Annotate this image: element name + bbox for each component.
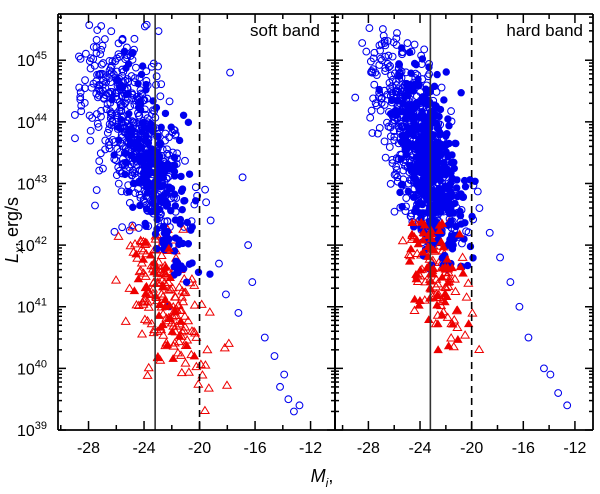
data-point xyxy=(447,200,454,207)
data-point xyxy=(410,295,418,302)
data-point xyxy=(176,137,183,144)
data-point xyxy=(141,179,148,186)
data-point xyxy=(216,260,223,267)
data-point xyxy=(153,157,160,164)
data-point xyxy=(171,173,178,180)
data-point xyxy=(129,204,136,211)
data-point xyxy=(153,73,160,80)
data-point xyxy=(434,71,441,78)
data-point xyxy=(192,197,199,204)
data-point xyxy=(420,175,427,182)
x-tick-label: -12 xyxy=(563,440,586,457)
data-point xyxy=(114,77,121,84)
data-point xyxy=(446,191,453,198)
data-point xyxy=(421,166,428,173)
data-point xyxy=(525,334,532,341)
data-point xyxy=(206,308,214,315)
data-point xyxy=(386,144,393,151)
data-point xyxy=(102,137,109,144)
data-point xyxy=(153,104,160,111)
data-point xyxy=(398,45,405,52)
data-point xyxy=(82,50,89,57)
data-point xyxy=(129,140,136,147)
data-point xyxy=(203,346,211,353)
data-point xyxy=(376,86,383,93)
y-tick-exponent: 45 xyxy=(35,50,47,62)
data-point xyxy=(109,96,116,103)
data-point xyxy=(438,84,445,91)
data-point xyxy=(382,154,389,161)
data-point xyxy=(122,317,130,324)
data-point xyxy=(434,145,441,152)
data-point xyxy=(122,171,129,178)
data-point xyxy=(160,240,167,247)
data-point xyxy=(125,110,132,117)
y-tick-exponent: 42 xyxy=(35,235,47,247)
data-point xyxy=(177,264,184,271)
y-tick-exponent: 43 xyxy=(35,174,47,186)
data-point xyxy=(207,271,214,278)
data-point xyxy=(277,383,284,390)
data-point xyxy=(180,112,187,119)
chart-figure: 1039104010411042104310441045-28-24-20-16… xyxy=(0,0,600,494)
data-point xyxy=(436,113,443,120)
series-blue-open-outlier xyxy=(476,205,571,409)
data-point xyxy=(443,69,450,76)
data-point xyxy=(419,159,426,166)
data-point xyxy=(450,210,457,217)
data-point xyxy=(426,64,433,71)
y-tick-label: 1045 xyxy=(17,50,47,70)
data-point xyxy=(261,334,268,341)
data-point xyxy=(457,212,464,219)
data-point xyxy=(432,188,439,195)
data-point xyxy=(140,119,147,126)
data-point xyxy=(177,220,184,227)
data-point xyxy=(434,105,441,112)
data-point xyxy=(404,40,411,47)
x-axis-title-comma: , xyxy=(328,466,333,486)
data-point xyxy=(398,156,405,163)
data-point xyxy=(399,237,407,244)
data-point xyxy=(397,189,404,196)
data-point xyxy=(178,173,185,180)
data-point xyxy=(470,254,477,261)
data-point xyxy=(239,174,246,181)
data-point xyxy=(195,269,202,276)
data-point xyxy=(449,320,457,327)
y-tick-label: 1040 xyxy=(17,358,47,378)
data-point xyxy=(462,183,469,190)
data-point xyxy=(93,37,100,44)
data-point xyxy=(410,88,417,95)
data-point xyxy=(223,291,230,298)
data-point xyxy=(101,36,108,43)
data-point xyxy=(187,227,194,234)
data-point xyxy=(450,242,457,249)
data-point xyxy=(88,84,95,91)
data-point xyxy=(393,97,400,104)
y-tick-exponent: 39 xyxy=(35,420,47,432)
data-point xyxy=(143,86,150,93)
data-point xyxy=(151,193,158,200)
data-point xyxy=(138,71,145,78)
data-point xyxy=(72,112,79,119)
data-point xyxy=(153,81,160,88)
panel-labels: soft bandhard band xyxy=(250,21,583,40)
data-point xyxy=(143,371,151,378)
data-point xyxy=(458,221,465,228)
x-tick-label: -24 xyxy=(408,440,431,457)
scatter-panel-hard-band xyxy=(352,25,571,409)
chart-svg: 1039104010411042104310441045-28-24-20-16… xyxy=(0,0,600,494)
y-axis-title-symbol: L xyxy=(2,253,22,263)
data-point xyxy=(403,195,410,202)
panel-label-soft: soft band xyxy=(250,21,320,40)
data-point xyxy=(441,159,448,166)
data-point xyxy=(190,352,198,359)
data-point xyxy=(416,148,423,155)
data-point xyxy=(179,186,186,193)
data-point xyxy=(117,84,124,91)
x-tick-label: -16 xyxy=(512,440,535,457)
data-point xyxy=(201,407,209,414)
data-point xyxy=(443,130,450,137)
data-point xyxy=(426,190,433,197)
data-point xyxy=(223,381,231,388)
data-point xyxy=(445,116,452,123)
data-point xyxy=(136,202,143,209)
panel-label-hard: hard band xyxy=(506,21,583,40)
data-point xyxy=(352,94,359,101)
data-point xyxy=(410,194,417,201)
data-point xyxy=(421,46,428,53)
data-point xyxy=(541,365,548,372)
data-point xyxy=(474,188,481,195)
data-point xyxy=(115,180,122,187)
data-point xyxy=(203,199,210,206)
data-point xyxy=(387,180,394,187)
data-point xyxy=(402,108,409,115)
data-point xyxy=(145,165,152,172)
y-tick-exponent: 44 xyxy=(35,112,47,124)
data-point xyxy=(453,177,460,184)
data-point xyxy=(205,384,213,391)
data-point xyxy=(87,137,94,144)
data-point xyxy=(130,49,137,56)
scatter-panel-soft-band xyxy=(72,21,303,415)
data-point xyxy=(146,156,153,163)
data-point xyxy=(227,69,234,76)
data-point xyxy=(132,64,139,71)
y-axis-title: Lx, erg/s xyxy=(2,197,26,263)
data-point xyxy=(221,344,229,351)
data-point xyxy=(166,98,173,105)
data-point xyxy=(249,279,256,286)
data-point xyxy=(453,185,460,192)
data-point xyxy=(161,230,168,237)
data-point xyxy=(431,168,438,175)
data-point xyxy=(475,346,483,353)
data-point xyxy=(155,28,162,35)
data-point xyxy=(291,408,298,415)
data-point xyxy=(434,346,442,353)
data-point xyxy=(437,131,444,138)
data-point xyxy=(128,131,135,138)
y-tick-label: 1043 xyxy=(17,174,47,194)
data-point xyxy=(392,108,399,115)
data-point xyxy=(444,342,452,349)
data-point xyxy=(420,113,427,120)
data-point xyxy=(447,334,455,341)
data-point xyxy=(446,122,453,129)
x-tick-label: -20 xyxy=(188,440,211,457)
data-point xyxy=(194,380,202,387)
data-point xyxy=(458,253,466,260)
data-point xyxy=(139,63,146,70)
x-axis-title-symbol: M xyxy=(311,466,326,486)
y-tick-exponent: 41 xyxy=(35,297,47,309)
data-point xyxy=(72,135,79,142)
data-point xyxy=(452,140,459,147)
data-point xyxy=(115,137,122,144)
data-point xyxy=(235,310,242,317)
data-point xyxy=(405,188,412,195)
data-point xyxy=(440,97,447,104)
data-point xyxy=(164,146,171,153)
x-tick-label: -28 xyxy=(77,440,100,457)
data-point xyxy=(117,116,124,123)
data-point xyxy=(131,35,138,42)
data-point xyxy=(418,137,425,144)
x-tick-label: -12 xyxy=(299,440,322,457)
data-point xyxy=(179,206,186,213)
data-point xyxy=(405,139,412,146)
data-point xyxy=(141,23,148,30)
data-point xyxy=(407,245,415,252)
data-point xyxy=(93,187,100,194)
data-point xyxy=(359,40,366,47)
data-point xyxy=(82,77,89,84)
data-point xyxy=(144,190,151,197)
data-point xyxy=(100,60,107,67)
data-point xyxy=(462,293,470,300)
data-point xyxy=(419,56,426,63)
data-point xyxy=(158,124,165,131)
data-point xyxy=(404,82,411,89)
data-point xyxy=(119,224,126,231)
data-point xyxy=(92,202,99,209)
data-point xyxy=(115,124,122,131)
data-point xyxy=(157,93,164,100)
data-point xyxy=(162,110,169,117)
data-point xyxy=(111,152,118,159)
data-point xyxy=(108,28,115,35)
data-point xyxy=(114,232,122,239)
data-point xyxy=(184,219,191,226)
y-tick-label: 1041 xyxy=(17,297,47,317)
y-axis-title-units: , erg/s xyxy=(2,197,22,247)
data-point xyxy=(398,181,405,188)
data-point xyxy=(153,148,160,155)
data-point xyxy=(123,65,130,72)
data-point xyxy=(156,140,163,147)
data-point xyxy=(94,27,101,34)
data-point xyxy=(463,228,470,235)
data-point xyxy=(368,107,375,114)
data-point xyxy=(448,108,455,115)
data-point xyxy=(461,177,468,184)
data-point xyxy=(434,121,441,128)
data-point xyxy=(363,48,370,55)
data-point xyxy=(426,114,433,121)
data-point xyxy=(156,206,163,213)
data-point xyxy=(181,359,189,366)
data-point xyxy=(366,25,373,32)
data-point xyxy=(497,254,504,261)
data-point xyxy=(459,269,467,276)
data-point xyxy=(399,203,406,210)
data-point xyxy=(138,330,146,337)
data-point xyxy=(172,202,179,209)
data-point xyxy=(458,89,465,96)
x-tick-label: -16 xyxy=(244,440,267,457)
data-point xyxy=(189,260,196,267)
data-point xyxy=(185,240,192,247)
data-point xyxy=(181,197,188,204)
data-point xyxy=(413,205,420,212)
data-point xyxy=(271,353,278,360)
data-point xyxy=(168,124,175,131)
data-point xyxy=(381,138,388,145)
data-point xyxy=(102,146,109,153)
data-point xyxy=(142,220,149,227)
data-point xyxy=(161,162,168,169)
data-point xyxy=(171,154,178,161)
data-point xyxy=(428,152,435,159)
data-point xyxy=(416,82,423,89)
data-point xyxy=(446,221,453,228)
data-point xyxy=(182,157,189,164)
series-blue-open-outlier xyxy=(202,69,303,415)
data-point xyxy=(121,48,128,55)
data-point xyxy=(404,131,411,138)
data-point xyxy=(476,205,483,212)
data-point xyxy=(135,104,142,111)
data-point xyxy=(564,402,571,409)
data-point xyxy=(145,364,153,371)
data-point xyxy=(406,49,413,56)
data-point xyxy=(395,60,402,67)
data-point xyxy=(245,242,252,249)
data-point xyxy=(135,80,142,87)
x-tick-labels: -28-24-20-16-12-28-24-20-16-12 xyxy=(77,440,587,457)
data-point xyxy=(379,26,386,33)
data-point xyxy=(408,70,415,77)
data-point xyxy=(415,76,422,83)
y-tick-label: 1039 xyxy=(17,420,47,440)
data-point xyxy=(87,127,94,134)
data-point xyxy=(296,402,303,409)
data-point xyxy=(486,229,493,236)
data-point xyxy=(143,205,150,212)
data-point xyxy=(516,303,523,310)
data-point xyxy=(451,165,458,172)
data-point xyxy=(285,396,292,403)
data-point xyxy=(507,279,514,286)
data-point xyxy=(446,140,453,147)
data-point xyxy=(447,180,454,187)
data-point xyxy=(396,73,403,80)
data-point xyxy=(168,185,175,192)
data-point xyxy=(153,181,160,188)
data-point xyxy=(160,223,167,230)
data-point xyxy=(411,41,418,48)
data-point xyxy=(438,206,445,213)
data-point xyxy=(445,153,452,160)
data-point xyxy=(402,115,409,122)
data-point xyxy=(183,279,190,286)
data-point xyxy=(160,183,167,190)
data-point xyxy=(408,101,415,108)
x-tick-label: -24 xyxy=(132,440,155,457)
data-point xyxy=(163,203,170,210)
data-point xyxy=(176,237,183,244)
data-point xyxy=(419,201,426,208)
data-point xyxy=(367,114,374,121)
data-point xyxy=(472,178,479,185)
data-point xyxy=(125,90,132,97)
data-point xyxy=(126,188,133,195)
data-point xyxy=(123,159,130,166)
data-point xyxy=(454,336,462,343)
data-point xyxy=(127,103,134,110)
data-point xyxy=(147,120,154,127)
y-tick-label: 1044 xyxy=(17,112,47,132)
data-point xyxy=(458,191,465,198)
data-point xyxy=(185,119,192,126)
y-tick-exponent: 40 xyxy=(35,358,47,370)
data-point xyxy=(139,128,146,135)
x-axis-title: Mi, xyxy=(311,466,334,490)
data-point xyxy=(555,390,562,397)
data-point xyxy=(425,316,433,323)
data-point xyxy=(186,171,193,178)
data-point xyxy=(96,158,103,165)
data-point xyxy=(411,60,418,67)
data-point xyxy=(192,184,199,191)
data-point xyxy=(202,186,209,193)
data-point xyxy=(453,306,461,313)
data-point xyxy=(207,217,214,224)
data-point xyxy=(112,276,120,283)
data-point xyxy=(281,371,288,378)
data-point xyxy=(467,243,474,250)
data-point xyxy=(140,170,147,177)
data-point xyxy=(461,331,469,338)
data-point xyxy=(97,150,104,157)
x-tick-label: -20 xyxy=(460,440,483,457)
data-point xyxy=(98,23,105,30)
data-point xyxy=(435,195,442,202)
data-point xyxy=(400,99,407,106)
data-point xyxy=(122,150,129,157)
x-tick-label: -28 xyxy=(357,440,380,457)
data-point xyxy=(547,371,554,378)
